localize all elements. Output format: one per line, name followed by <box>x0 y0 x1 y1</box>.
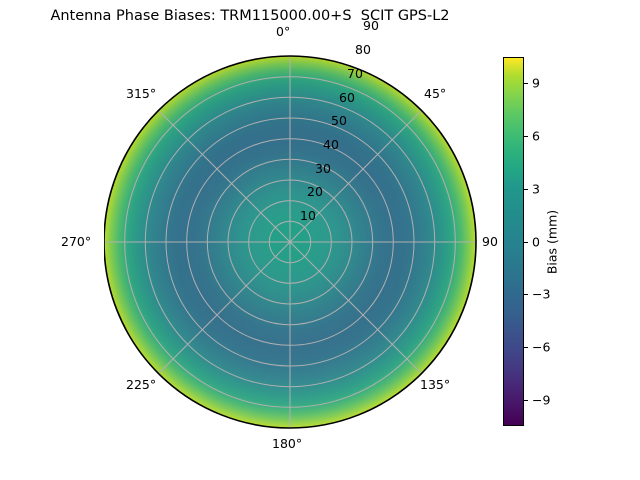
colorbar-tick-0 <box>524 242 528 243</box>
colorbar-tick-6 <box>524 136 528 137</box>
colorbar[interactable]: 9 6 3 0 −3 −6 −9 <box>503 57 524 426</box>
r-tick-60: 60 <box>339 90 355 105</box>
colorbar-tick-neg9 <box>524 400 528 401</box>
theta-tick-225: 225° <box>126 377 156 392</box>
colorbar-tick-9 <box>524 83 528 84</box>
colorbar-ticklabel-9: 9 <box>532 76 540 91</box>
r-tick-20: 20 <box>307 184 323 199</box>
theta-tick-0: 0° <box>276 24 290 39</box>
colorbar-ticklabel-3: 3 <box>532 181 540 196</box>
theta-tick-90: 90 <box>482 234 498 249</box>
r-tick-30: 30 <box>315 161 331 176</box>
r-tick-10: 10 <box>300 208 316 223</box>
theta-tick-45: 45° <box>424 86 446 101</box>
r-tick-80: 80 <box>355 42 371 57</box>
page-title: Antenna Phase Biases: TRM115000.00+S SCI… <box>0 8 500 24</box>
figure-canvas: Antenna Phase Biases: TRM115000.00+S SCI… <box>0 0 640 480</box>
theta-tick-180: 180° <box>272 436 302 451</box>
colorbar-ticklabel-neg9: −9 <box>532 392 550 407</box>
theta-tick-315: 315° <box>126 86 156 101</box>
colorbar-ticklabel-neg3: −3 <box>532 287 550 302</box>
r-tick-90: 90 <box>363 18 379 33</box>
r-tick-70: 70 <box>347 66 363 81</box>
colorbar-ticklabel-0: 0 <box>532 234 540 249</box>
colorbar-ticklabel-neg6: −6 <box>532 339 550 354</box>
r-tick-40: 40 <box>323 137 339 152</box>
colorbar-ticklabel-6: 6 <box>532 129 540 144</box>
colorbar-tick-neg3 <box>524 294 528 295</box>
polar-axes[interactable]: 0° 45° 90 135° 180° 225° 270° 315° 10 20… <box>104 50 488 434</box>
angular-gridlines <box>104 56 476 428</box>
colorbar-gradient <box>503 57 524 426</box>
colorbar-tick-3 <box>524 189 528 190</box>
theta-tick-135: 135° <box>420 377 450 392</box>
theta-tick-270: 270° <box>61 234 91 249</box>
r-tick-50: 50 <box>331 113 347 128</box>
colorbar-tick-neg6 <box>524 347 528 348</box>
colorbar-axis-label: Bias (mm) <box>545 210 560 274</box>
